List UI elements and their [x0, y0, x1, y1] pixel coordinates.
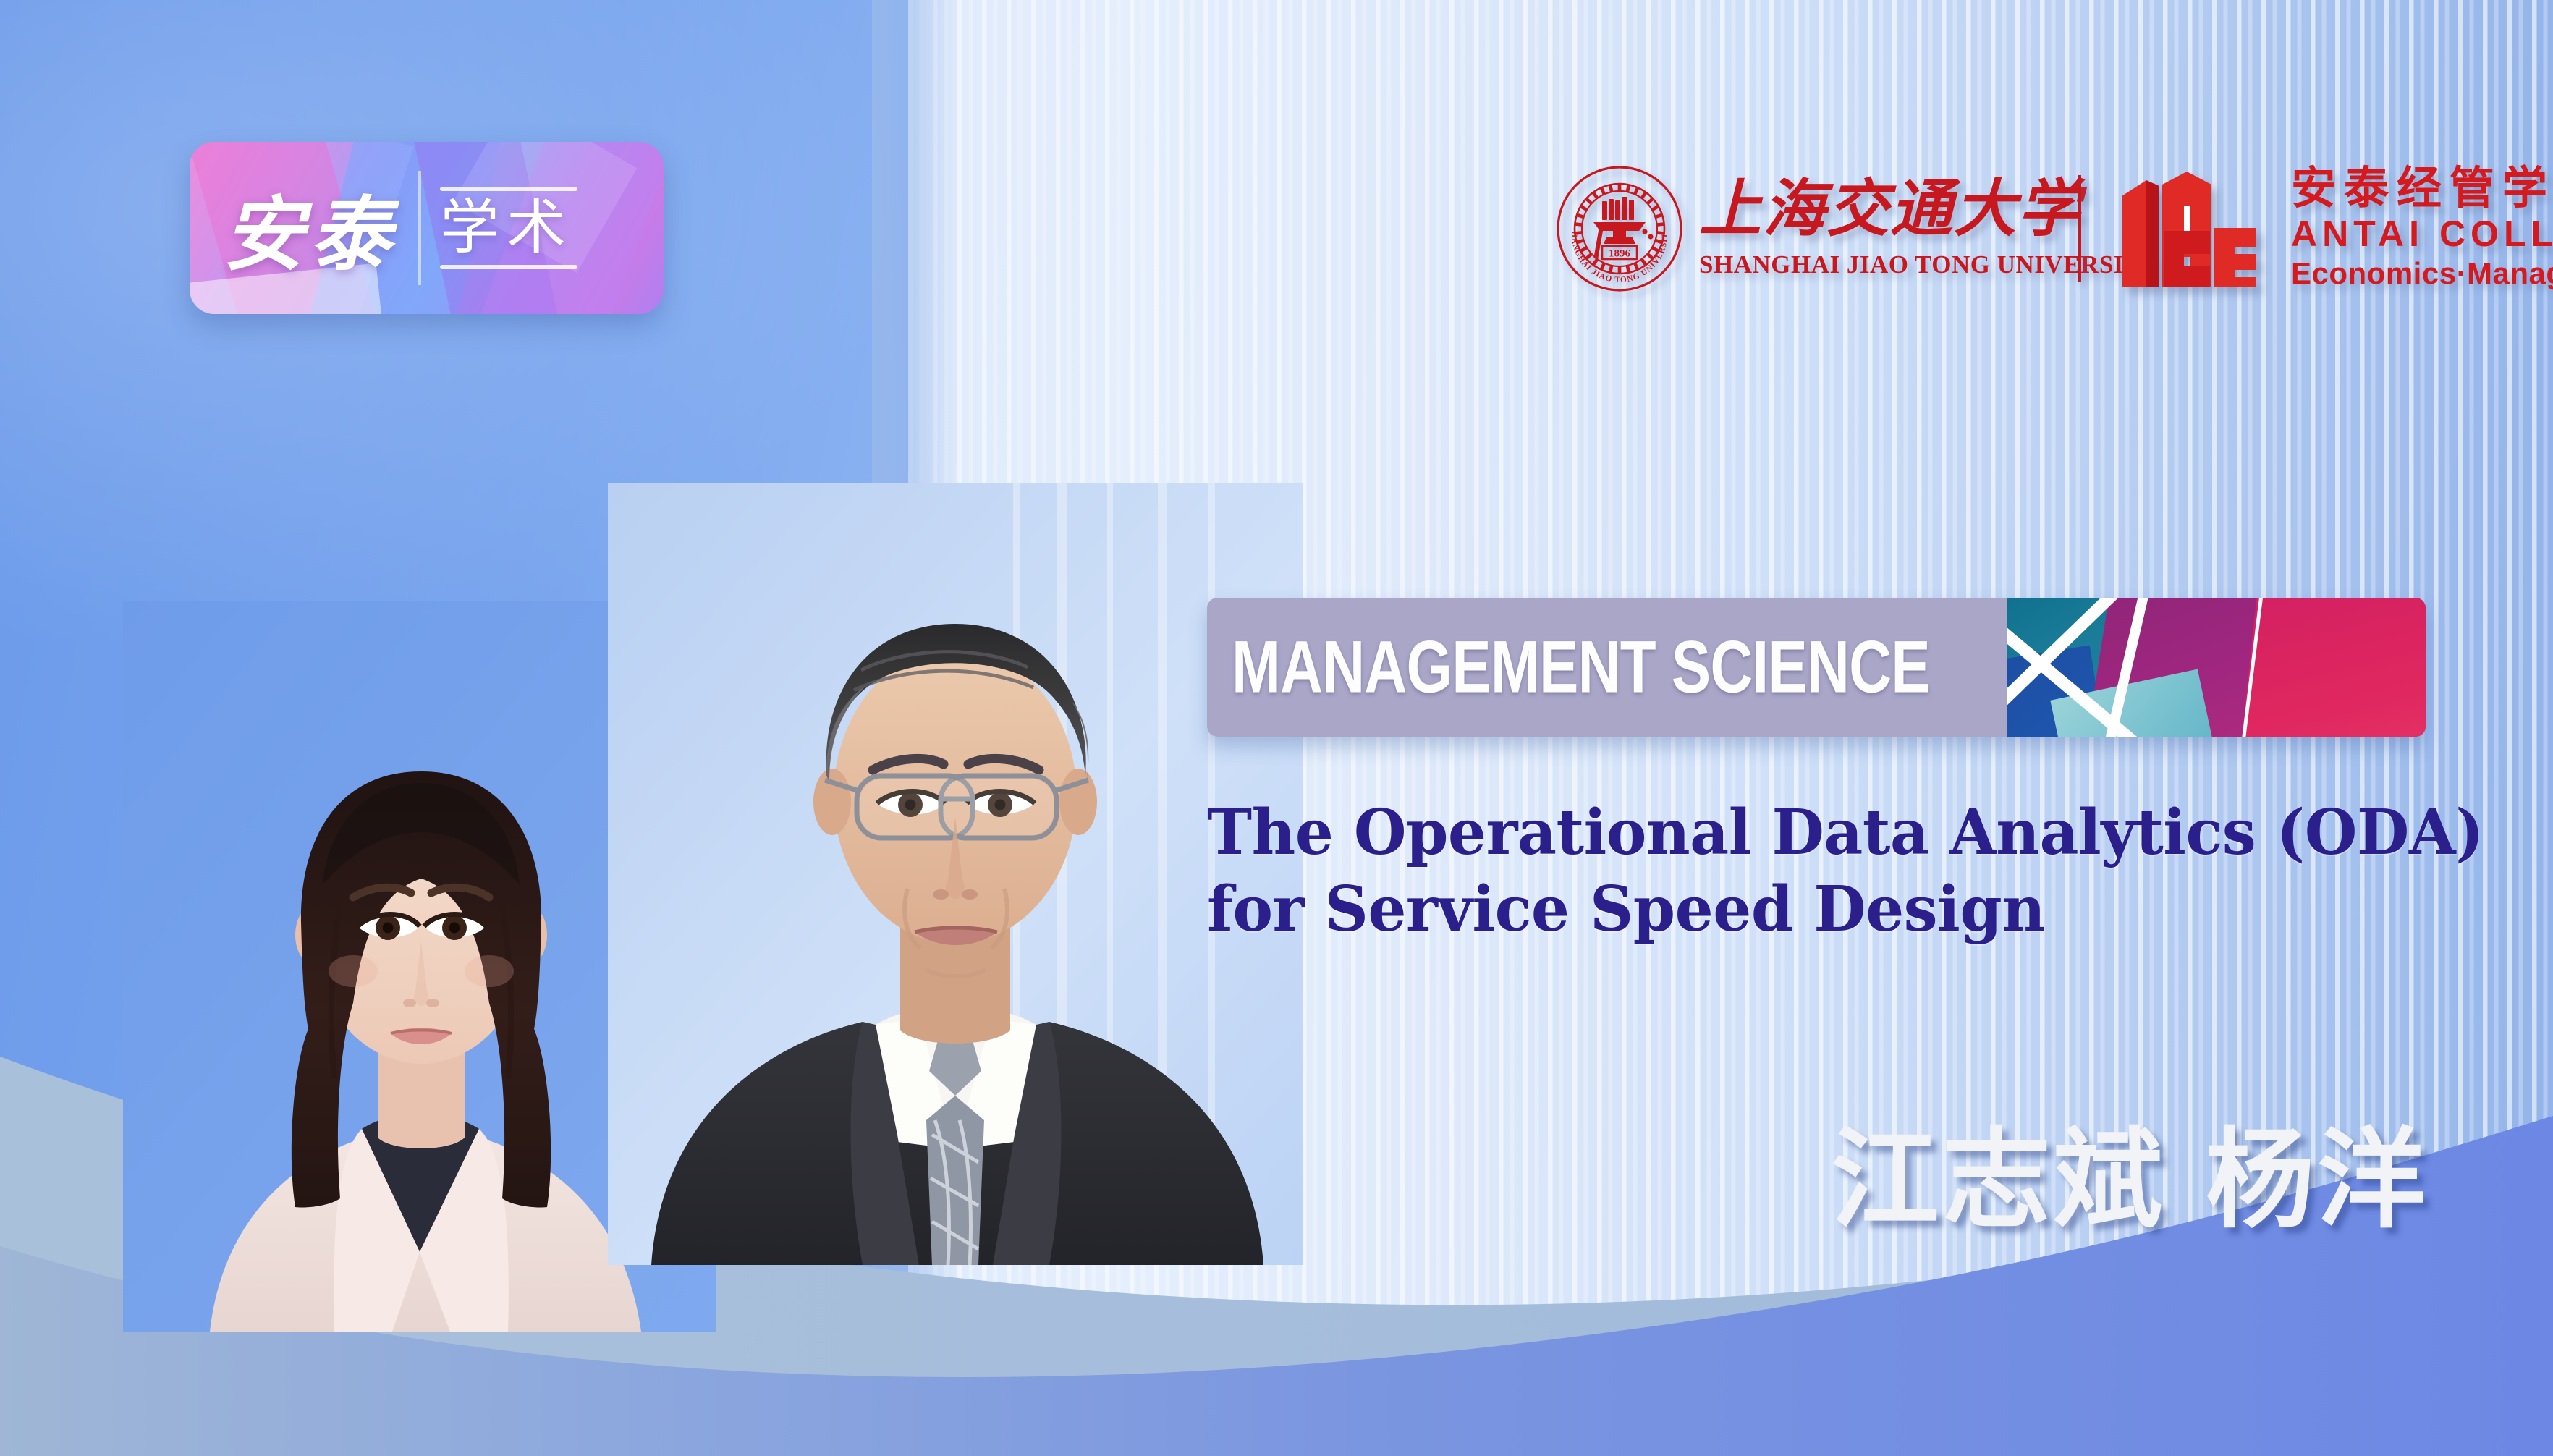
- antai-college-en2: Economics·Management: [2291, 255, 2553, 292]
- speaker-photo-jiang-zhibin: [608, 483, 1303, 1265]
- logo-vertical-divider: [2078, 175, 2081, 282]
- acem-logo-icon: [2114, 164, 2265, 293]
- antai-academic-badge[interactable]: 安泰 学术: [190, 142, 664, 314]
- badge-rule-top: [440, 187, 577, 191]
- antai-college-en1: ANTAI COLLEGE: [2291, 213, 2553, 255]
- journal-banner[interactable]: MANAGEMENT SCIENCE: [1207, 598, 2426, 737]
- poster-canvas: 安泰 学术: [0, 0, 2553, 1456]
- antai-college-cn: 安泰经管学院: [2291, 165, 2553, 213]
- journal-title: MANAGEMENT SCIENCE: [1232, 625, 1930, 710]
- talk-title: The Operational Data Analytics (ODA) for…: [1207, 795, 2471, 948]
- journal-nameplate: MANAGEMENT SCIENCE: [1207, 598, 2007, 737]
- journal-art-lines: [2007, 598, 2426, 737]
- badge-rule-bottom: [440, 265, 577, 269]
- badge-brand-label: 安泰: [223, 169, 397, 287]
- talk-title-line-2: for Service Speed Design: [1207, 871, 2471, 948]
- seal-year: 1896: [1609, 248, 1631, 260]
- badge-series-block: 学术: [440, 187, 573, 269]
- antai-college-wordmark: 安泰经管学院 ANTAI COLLEGE Economics·Managemen…: [2291, 165, 2553, 292]
- speaker-names: 江志斌 杨洋: [1831, 1125, 2429, 1234]
- journal-cover-art: [2007, 598, 2426, 737]
- talk-title-line-1: The Operational Data Analytics (ODA): [1207, 795, 2471, 871]
- sjtu-wordmark: 上海交通大学 SHANGHAI JIAO TONG UNIVERSITY: [1699, 178, 2046, 279]
- badge-series-label: 学术: [440, 195, 573, 261]
- sjtu-name-cn: 上海交通大学: [1699, 172, 2081, 245]
- institution-logo-lockup[interactable]: 1896 SHANGHAI JIAO TONG UNIVERSITY 上海交通大…: [1556, 156, 2553, 301]
- sjtu-name-en: SHANGHAI JIAO TONG UNIVERSITY: [1699, 250, 2046, 279]
- badge-divider: [418, 171, 421, 285]
- sjtu-seal-icon: 1896 SHANGHAI JIAO TONG UNIVERSITY: [1556, 165, 1683, 292]
